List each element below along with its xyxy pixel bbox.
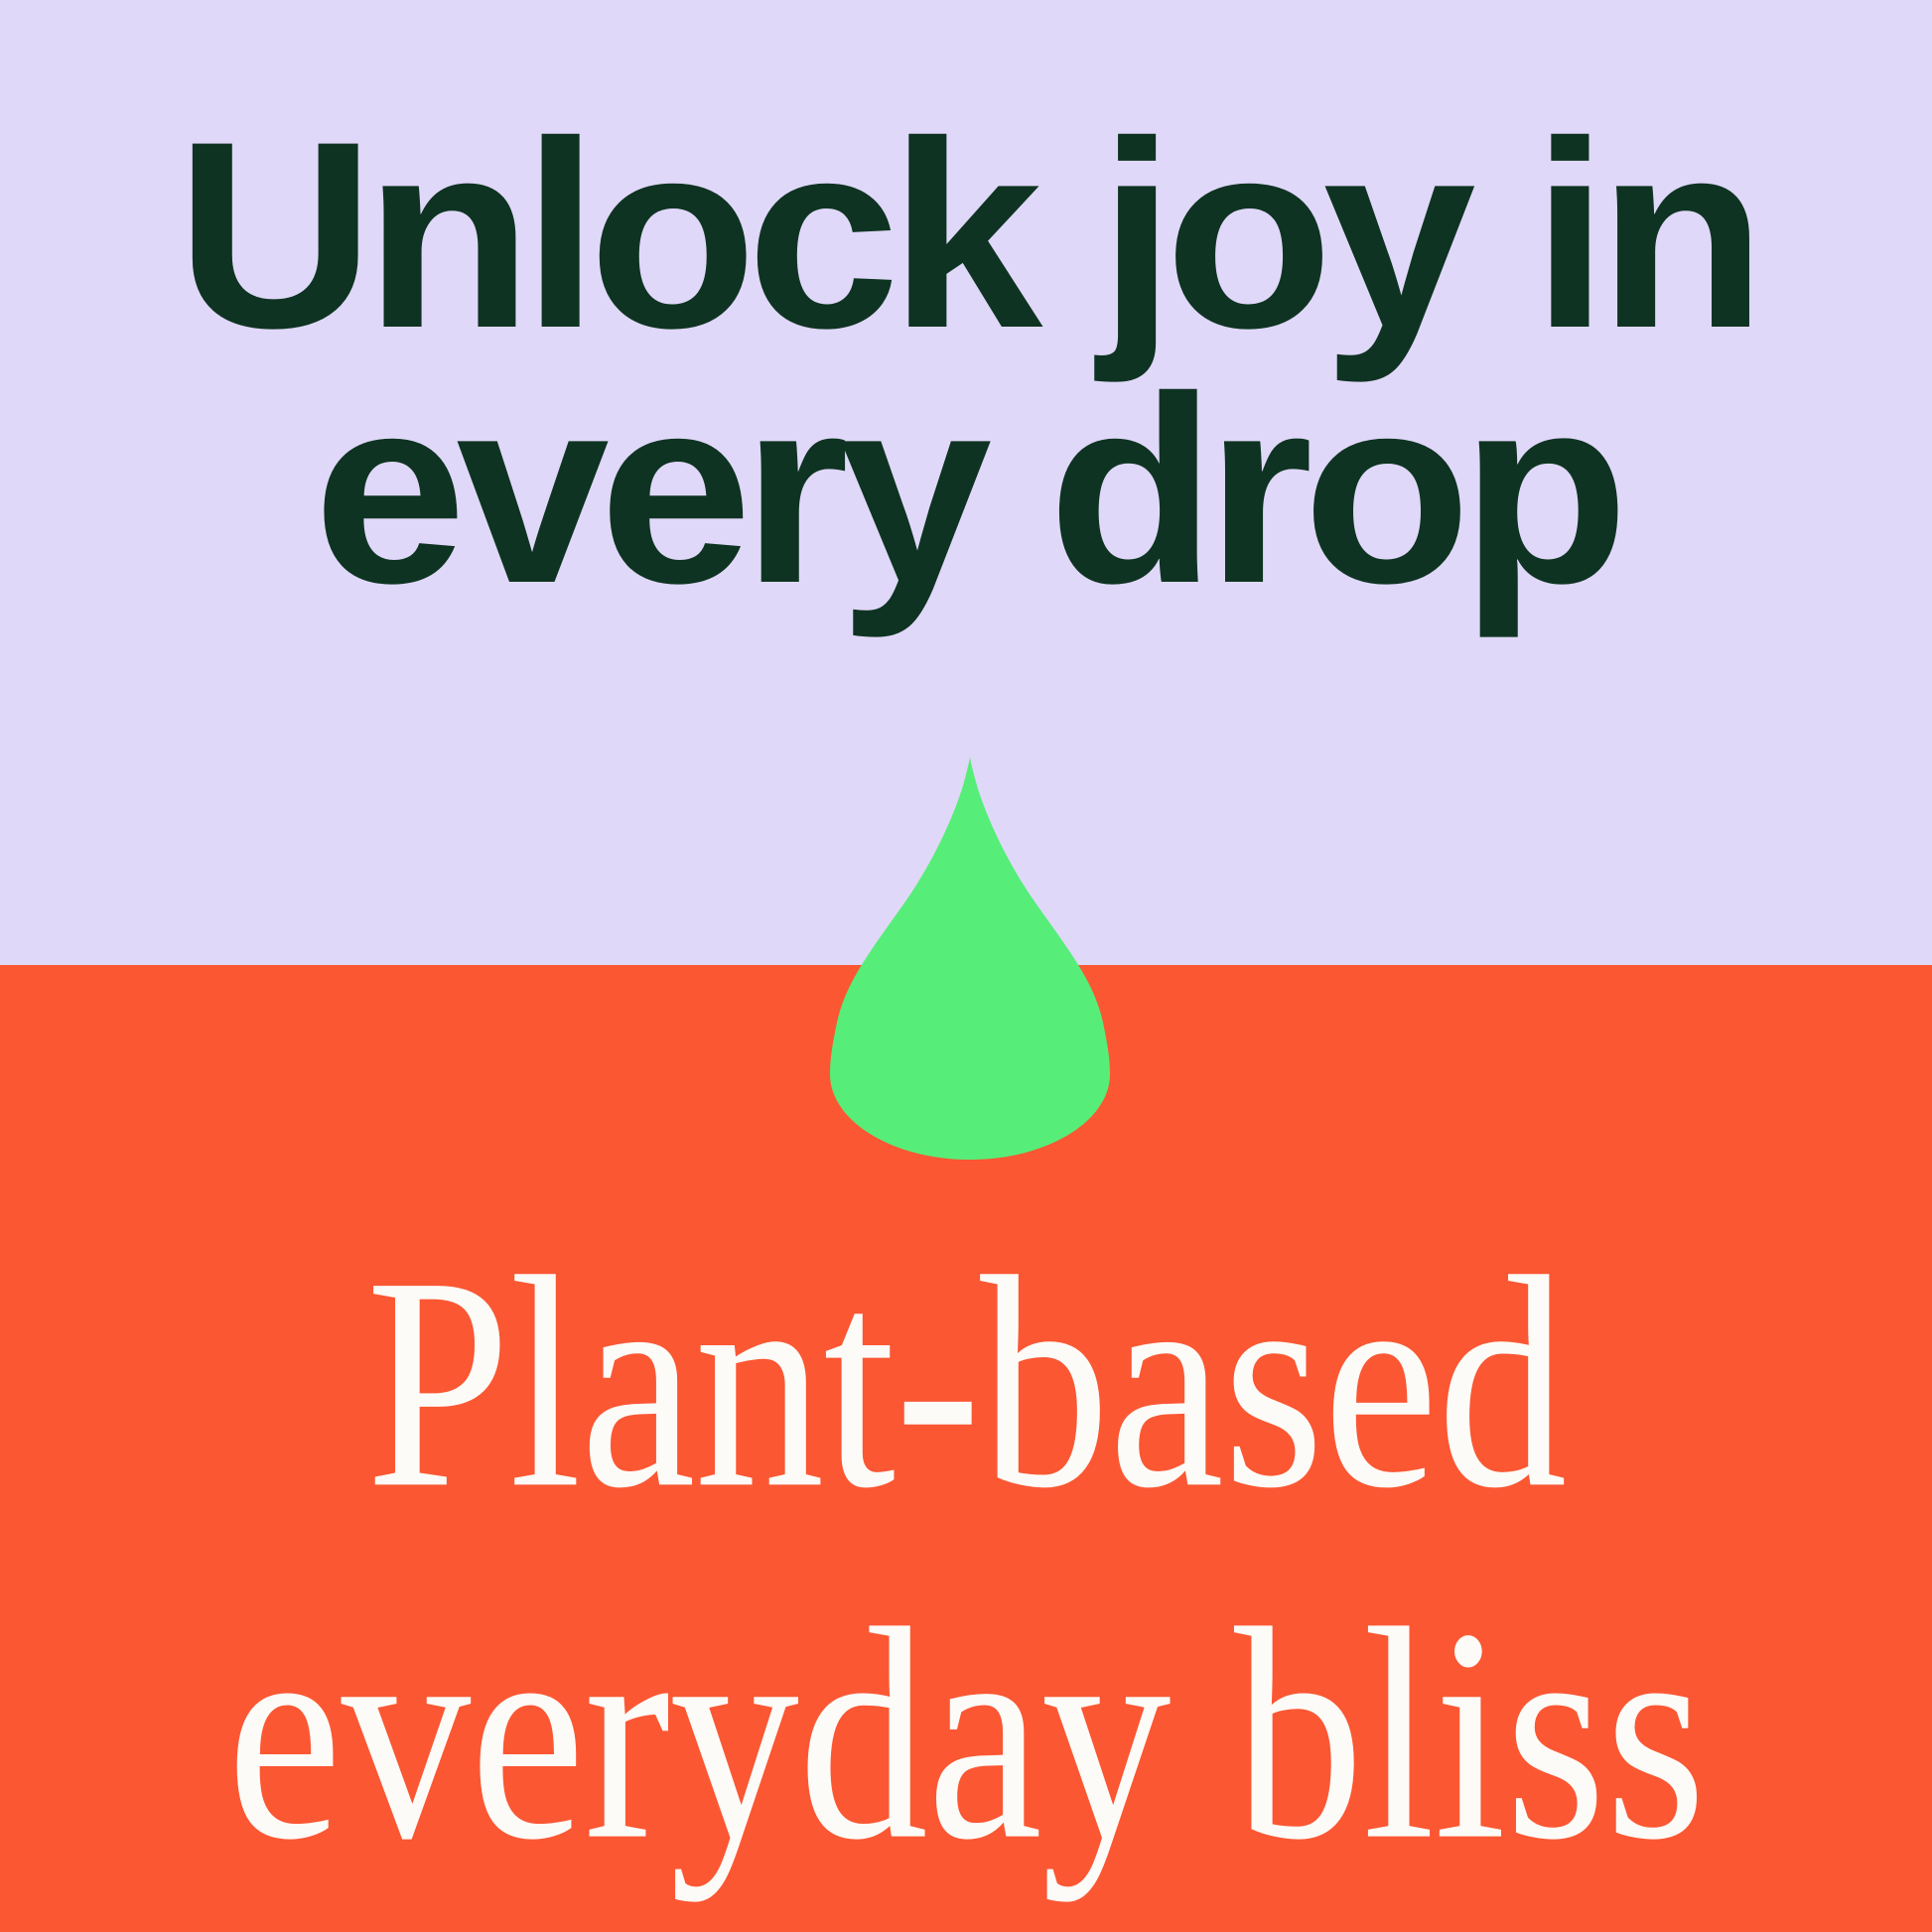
headline: Unlock joy in every drop xyxy=(0,107,1932,619)
headline-line-2: every drop xyxy=(0,362,1932,618)
headline-line-1: Unlock joy in xyxy=(0,107,1932,362)
poster-canvas: Unlock joy in every drop Plant-based eve… xyxy=(0,0,1932,1932)
subhead: Plant-based everyday bliss xyxy=(58,1207,1873,1911)
water-drop-shape xyxy=(830,757,1110,1160)
subhead-line-2: everyday bliss xyxy=(58,1560,1873,1912)
subhead-line-1: Plant-based xyxy=(58,1207,1873,1560)
water-drop-icon xyxy=(830,757,1110,1160)
